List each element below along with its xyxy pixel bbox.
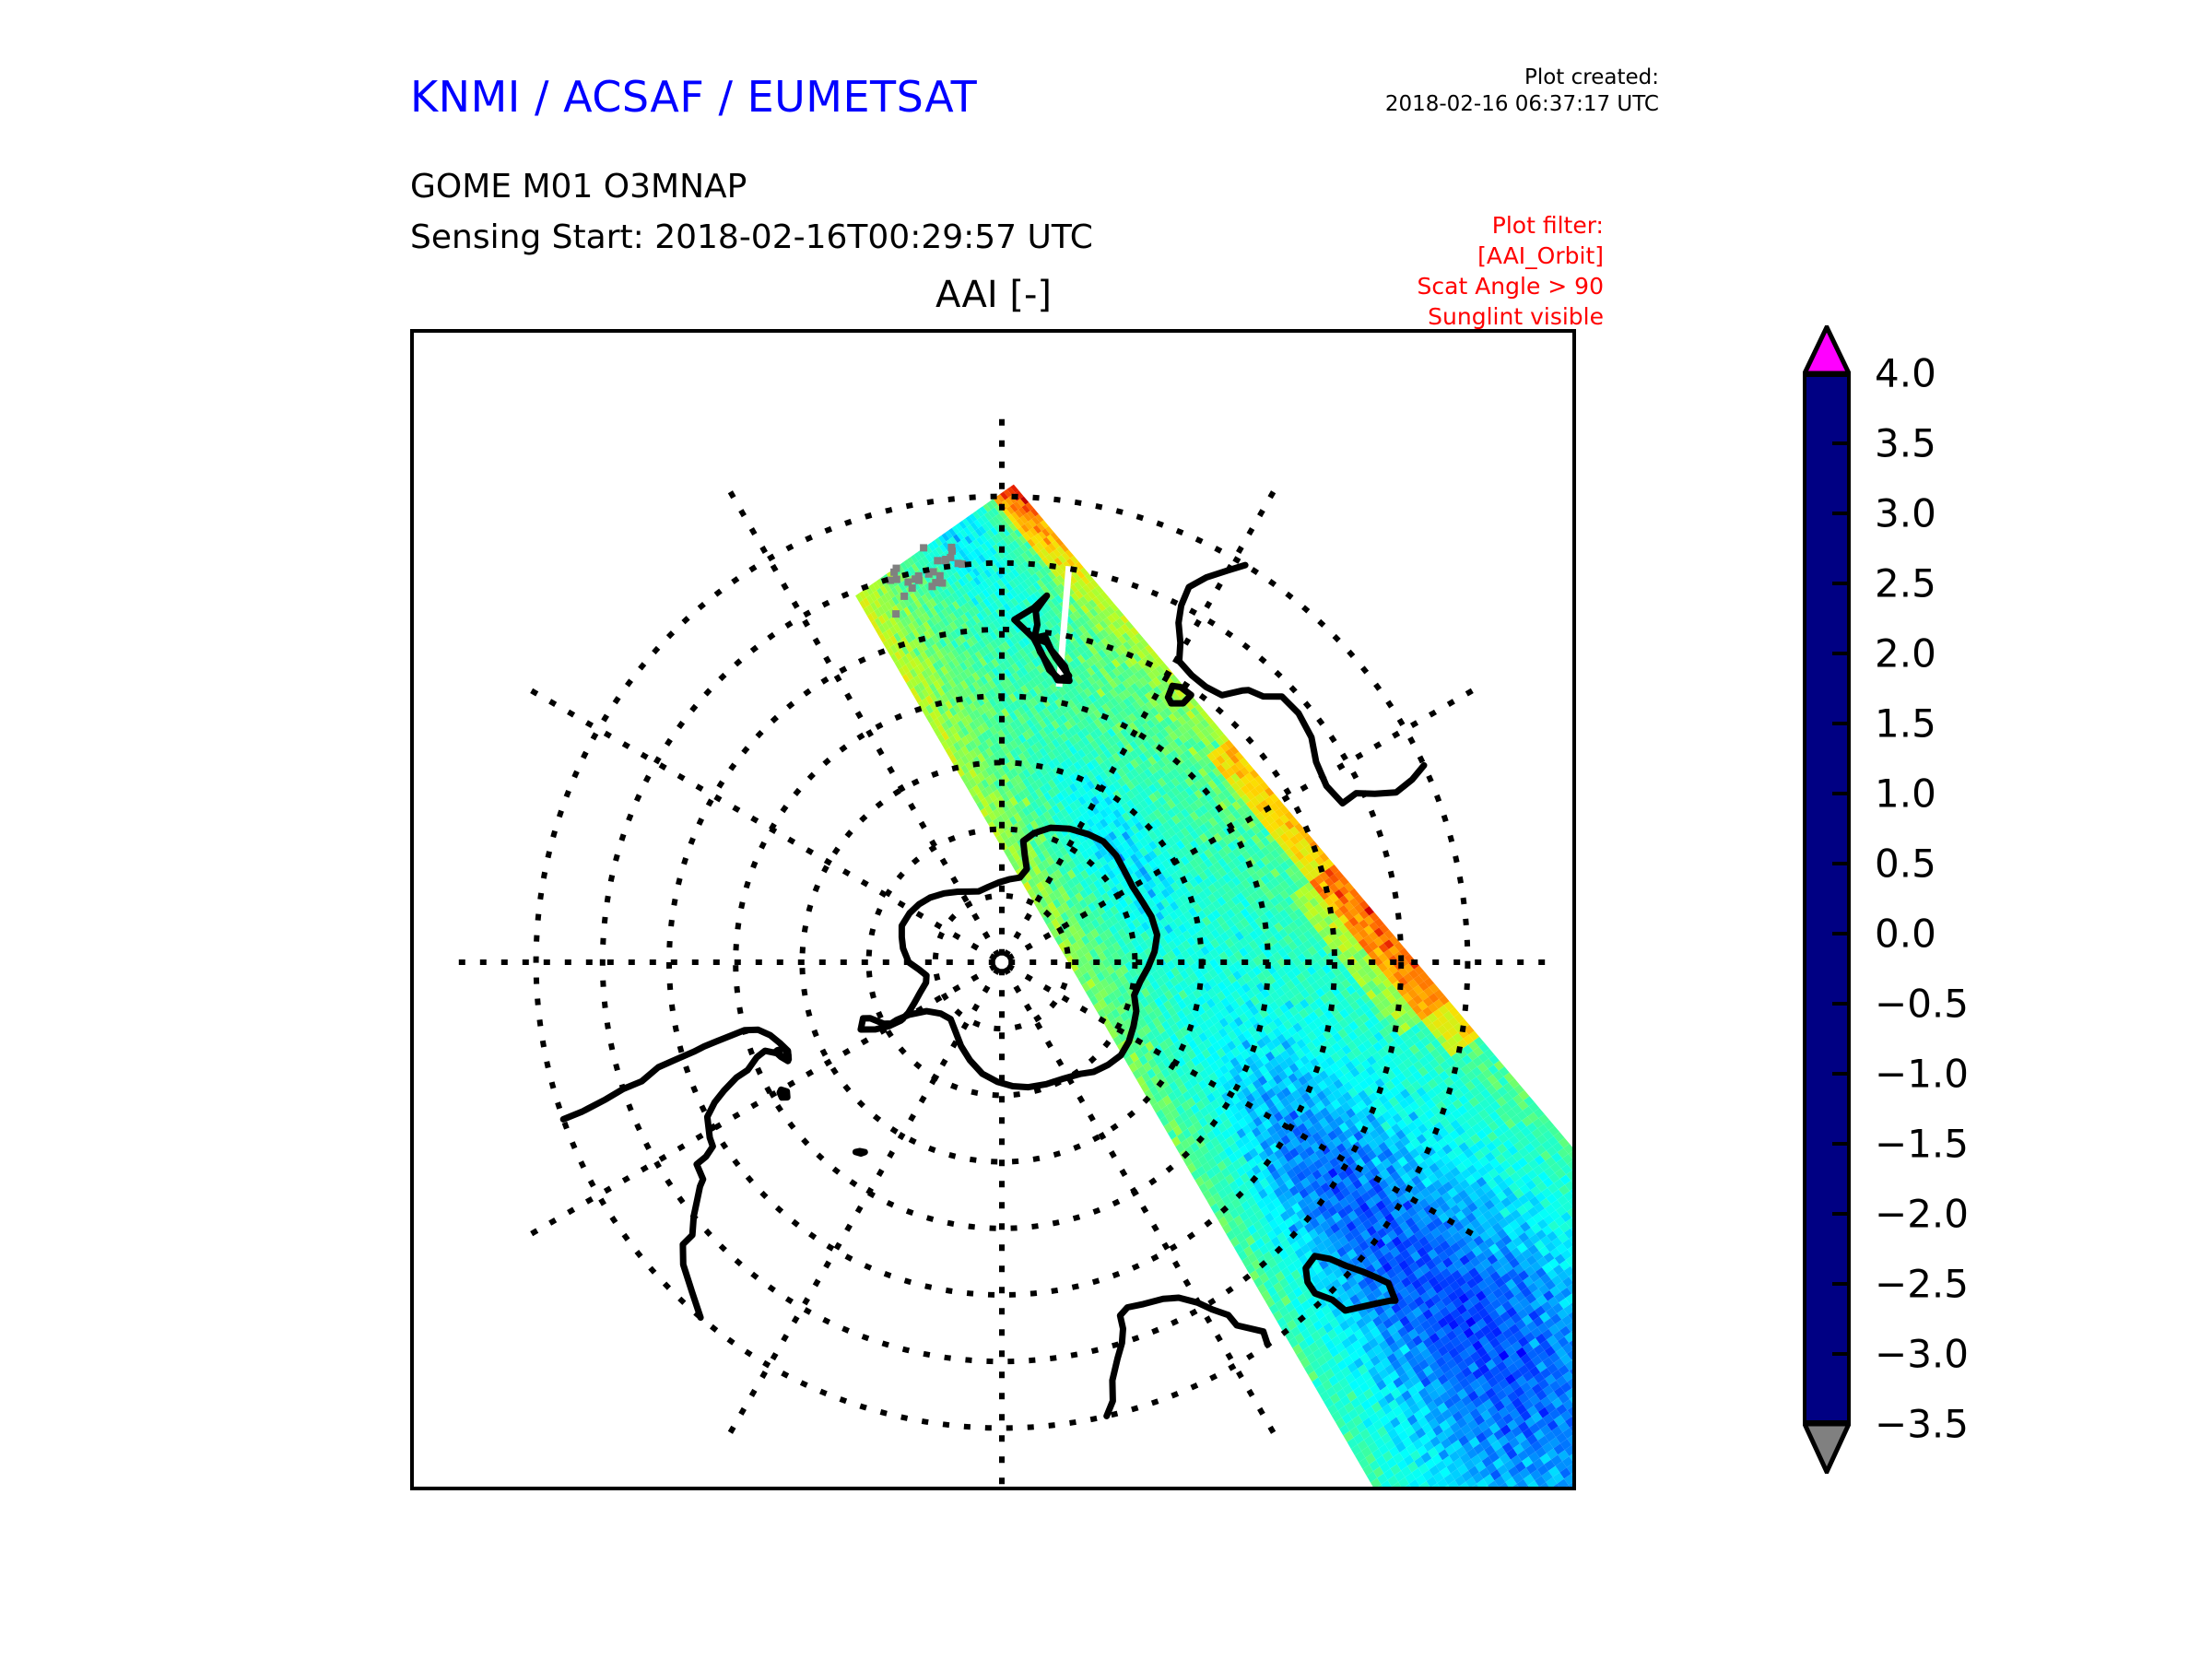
colorbar-tick: [1832, 512, 1851, 515]
latitude-circle: [935, 896, 1068, 1029]
colorbar-under-arrow: [1803, 1422, 1851, 1470]
plot-filter-line1: [AAI_Orbit]: [1318, 241, 1604, 271]
colorbar-tick-label: 2.5: [1875, 561, 1936, 606]
colorbar-tick: [1832, 582, 1851, 585]
colorbar-tick-label: 0.0: [1875, 912, 1936, 957]
colorbar-tick: [1832, 1142, 1851, 1146]
colorbar-tick: [1832, 371, 1851, 375]
colorbar-tick: [1832, 1002, 1851, 1006]
coastline-south-georgia: [855, 1151, 865, 1154]
colorbar-tick: [1832, 1072, 1851, 1076]
polar-map: [414, 333, 1572, 1487]
colorbar[interactable]: 4.03.53.02.52.01.51.00.50.0−0.5−1.0−1.5−…: [1797, 327, 2184, 1498]
plot-filter-line3: Sunglint visible: [1318, 301, 1604, 332]
colorbar-tick-label: −3.0: [1875, 1332, 1969, 1377]
map-plot-area[interactable]: [410, 329, 1576, 1490]
plot-filter-line2: Scat Angle > 90: [1318, 271, 1604, 301]
colorbar-tick-label: 1.5: [1875, 701, 1936, 747]
plot-created-time: 2018-02-16 06:37:17 UTC: [1272, 91, 1659, 118]
instrument-line: GOME M01 O3MNAP: [410, 168, 747, 206]
coastline-africa: [1107, 1298, 1268, 1416]
colorbar-tick-label: 4.0: [1875, 351, 1936, 396]
colorbar-tick: [1832, 932, 1851, 935]
colorbar-tick-label: −2.0: [1875, 1192, 1969, 1237]
coastline-tierra-del-fuego: [775, 1049, 788, 1062]
colorbar-gradient: [1803, 373, 1851, 1424]
colorbar-tick: [1832, 652, 1851, 655]
colorbar-tick: [1832, 1352, 1851, 1356]
colorbar-tick-label: −1.0: [1875, 1052, 1969, 1097]
plot-filter-title: Plot filter:: [1318, 210, 1604, 241]
colorbar-tick-label: 2.0: [1875, 631, 1936, 677]
plot-created-label: Plot created:: [1272, 65, 1659, 91]
sensing-start-line: Sensing Start: 2018-02-16T00:29:57 UTC: [410, 218, 1093, 256]
plot-created-block: Plot created: 2018-02-16 06:37:17 UTC: [1272, 65, 1659, 119]
colorbar-tick-label: −2.5: [1875, 1262, 1969, 1307]
organisation-title: KNMI / ACSAF / EUMETSAT: [410, 72, 977, 122]
plot-filter-block: Plot filter: [AAI_Orbit] Scat Angle > 90…: [1318, 210, 1604, 332]
colorbar-tick-label: −1.5: [1875, 1122, 1969, 1167]
colorbar-tick: [1832, 1422, 1851, 1426]
colorbar-tick-label: 3.0: [1875, 491, 1936, 536]
colorbar-tick-label: −0.5: [1875, 982, 1969, 1027]
colorbar-tick: [1832, 1282, 1851, 1286]
colorbar-tick: [1832, 441, 1851, 445]
colorbar-over-arrow: [1803, 325, 1851, 373]
colorbar-tick: [1832, 1212, 1851, 1216]
colorbar-tick: [1832, 722, 1851, 725]
colorbar-tick-label: 0.5: [1875, 841, 1936, 887]
page-title: AAI [-]: [935, 274, 1052, 316]
colorbar-tick-label: −3.5: [1875, 1402, 1969, 1447]
colorbar-tick: [1832, 862, 1851, 865]
coastline-falkland-islands: [780, 1089, 787, 1098]
colorbar-tick: [1832, 792, 1851, 795]
colorbar-tick-label: 1.0: [1875, 771, 1936, 817]
longitude-meridian: [529, 689, 995, 959]
colorbar-tick-label: 3.5: [1875, 421, 1936, 466]
